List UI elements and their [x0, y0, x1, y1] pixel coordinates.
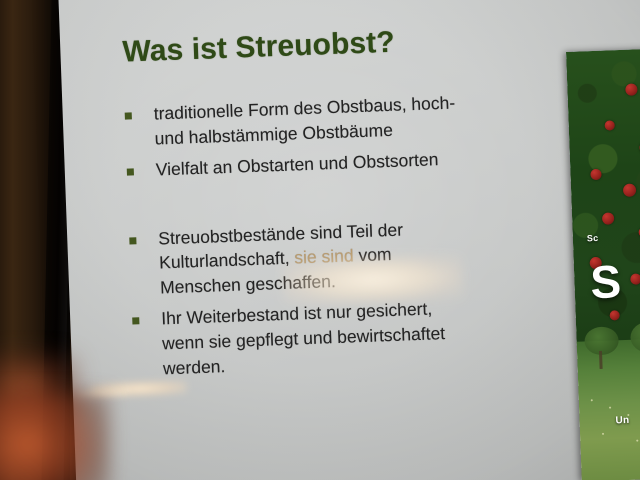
bullet-text-1: traditionelle Form des Obstbaus, hoch- u…	[153, 91, 456, 152]
bullet-1-line-1: traditionelle Form des Obstbaus, hoch-	[153, 93, 455, 124]
bullet-square-icon	[127, 168, 134, 175]
bullet-item-1: traditionelle Form des Obstbaus, hoch- u…	[124, 85, 596, 152]
poster-footer-text: Un	[615, 415, 629, 427]
bullet-1-line-2: und halbstämmige Obstbäume	[154, 120, 393, 149]
meadow-speck	[591, 399, 593, 401]
apple-icon	[623, 184, 636, 197]
poster-meadow	[577, 338, 640, 480]
bullet-text-2: Vielfalt an Obstarten und Obstsorten	[155, 147, 438, 182]
poster-subtitle-text: Sc	[587, 233, 599, 243]
bullet-3-line-1: Streuobstbestände sind Teil der	[158, 219, 403, 248]
bullet-list: traditionelle Form des Obstbaus, hoch- u…	[124, 85, 604, 382]
apple-icon	[590, 169, 601, 180]
foreground-blur-object	[0, 392, 110, 480]
bullet-4-line-2: wenn sie gepflegt und bewirtschaftet	[162, 323, 446, 353]
background-tree-trunk	[599, 351, 603, 369]
meadow-speck	[602, 433, 604, 435]
bullet-text-4: Ihr Weiterbestand ist nur gesichert, wen…	[161, 296, 447, 381]
bullet-4-line-3: werden.	[163, 356, 226, 378]
projection-screen: Was ist Streuobst? traditionelle Form de…	[58, 0, 640, 480]
bullet-text-3: Streuobstbestände sind Teil der Kulturla…	[158, 217, 405, 300]
slide-title: Was ist Streuobst?	[122, 18, 593, 68]
apple-icon	[602, 212, 614, 224]
bullet-square-icon	[132, 317, 139, 324]
apple-icon	[610, 310, 620, 320]
photo-frame: Was ist Streuobst? traditionelle Form de…	[0, 0, 640, 480]
meadow-speck	[636, 440, 638, 442]
bullet-item-3: Streuobstbestände sind Teil der Kulturla…	[129, 210, 601, 302]
bullet-square-icon	[129, 237, 136, 244]
bullet-item-4: Ihr Weiterbestand ist nur gesichert, wen…	[132, 290, 604, 382]
slide-content: Was ist Streuobst? traditionelle Form de…	[122, 18, 605, 388]
bullet-3-line-3: Menschen geschaffen.	[160, 271, 336, 297]
bullet-2-line-1: Vielfalt an Obstarten und Obstsorten	[155, 149, 438, 179]
apple-icon	[625, 83, 637, 95]
meadow-speck	[609, 407, 611, 409]
apple-icon	[630, 273, 640, 284]
bullet-3-line-2-prefix: Kulturlandschaft,	[159, 248, 295, 273]
bullet-3-washed-words: sie sind	[294, 246, 354, 268]
bullet-square-icon	[125, 112, 132, 119]
apple-icon	[605, 120, 615, 130]
bullet-3-line-2-suffix: vom	[353, 244, 392, 265]
poster-headline-text: S	[590, 258, 622, 305]
